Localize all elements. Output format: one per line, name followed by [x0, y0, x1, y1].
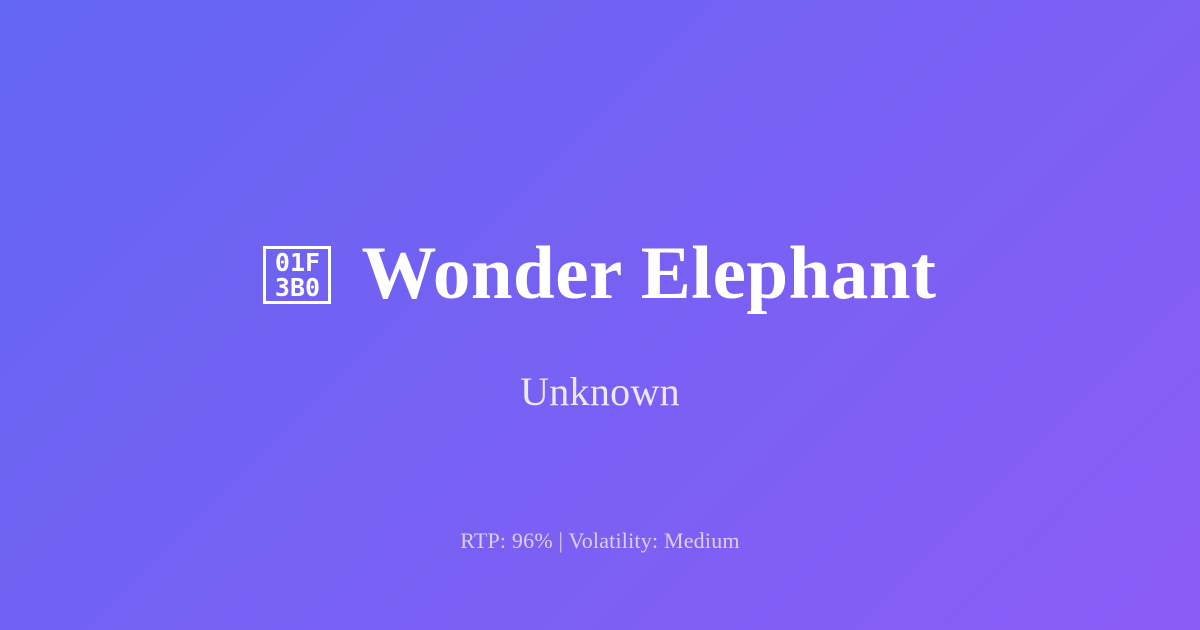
- game-meta-line: RTP: 96% | Volatility: Medium: [0, 526, 1200, 556]
- hero-block: 01F 3B0 Wonder Elephant Unknown: [0, 228, 1200, 416]
- page-title: Wonder Elephant: [361, 228, 936, 320]
- title-row: 01F 3B0 Wonder Elephant: [263, 228, 936, 320]
- provider-subtitle: Unknown: [520, 368, 680, 416]
- tofu-codepoint-row-bottom: 3B0: [275, 275, 320, 300]
- tofu-codepoint-row-top: 01F: [275, 250, 320, 275]
- slot-machine-icon: 01F 3B0: [263, 246, 331, 304]
- og-share-card: 01F 3B0 Wonder Elephant Unknown RTP: 96%…: [0, 0, 1200, 630]
